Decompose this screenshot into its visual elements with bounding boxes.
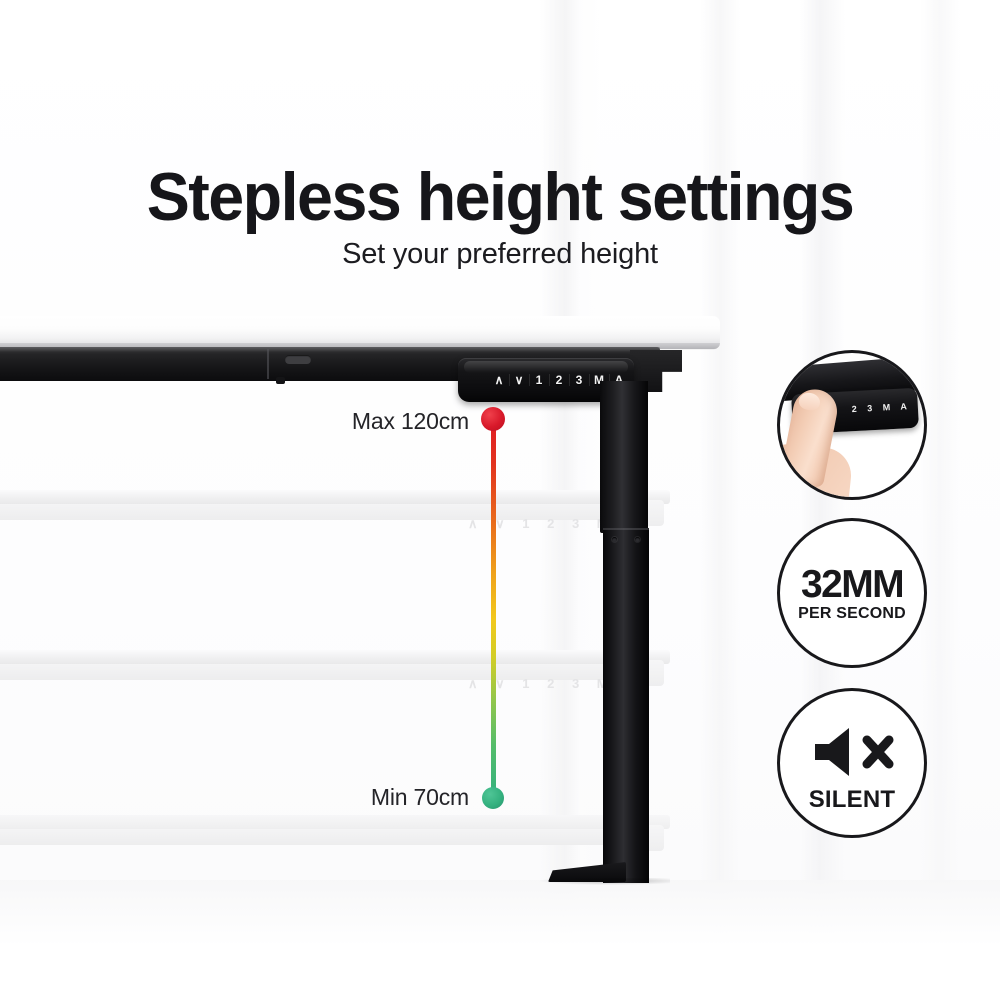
product-feature-banner: ∧ ∨ 1 2 3 M A ∧ ∨ 1 2 3 M A Stepless hei… [0,0,1000,1000]
leg-screw-hole [612,537,617,542]
speed-caption: PER SECOND [780,605,924,623]
mute-speaker-icon [780,725,924,779]
min-height-marker-dot [482,787,504,809]
key-preset-2[interactable]: 2 [550,374,570,386]
leg-floor-shadow [540,878,670,885]
page-title: Stepless height settings [25,158,975,236]
badge-touch-panel: 2 3 M A [777,350,927,500]
key-preset-3[interactable]: 3 [570,374,590,386]
background-floor [0,880,1000,1000]
key-down-icon[interactable]: ∨ [510,374,530,386]
silent-label: SILENT [780,786,924,814]
leg-lower-stage [603,528,649,883]
badge-lift-speed: 32MM PER SECOND [777,518,927,668]
badge-silent-operation: SILENT [777,688,927,838]
frame-bolt [276,377,285,384]
frame-joint [267,349,269,379]
leg-upper-stage [600,381,648,533]
desktop-surface [0,316,720,349]
photo-keypad-keys: 2 3 M A [851,401,911,414]
max-height-marker-dot [481,407,505,431]
speed-value: 32MM [780,563,924,607]
leg-screw-hole [635,537,640,542]
key-up-icon[interactable]: ∧ [490,374,510,386]
frame-cable-slot [285,355,311,364]
max-height-label: Max 120cm [279,408,469,435]
background-wall [0,0,1000,1000]
key-preset-1[interactable]: 1 [530,374,550,386]
min-height-label: Min 70cm [289,784,469,811]
page-subtitle: Set your preferred height [0,238,1000,271]
height-range-gradient-bar [491,418,496,798]
